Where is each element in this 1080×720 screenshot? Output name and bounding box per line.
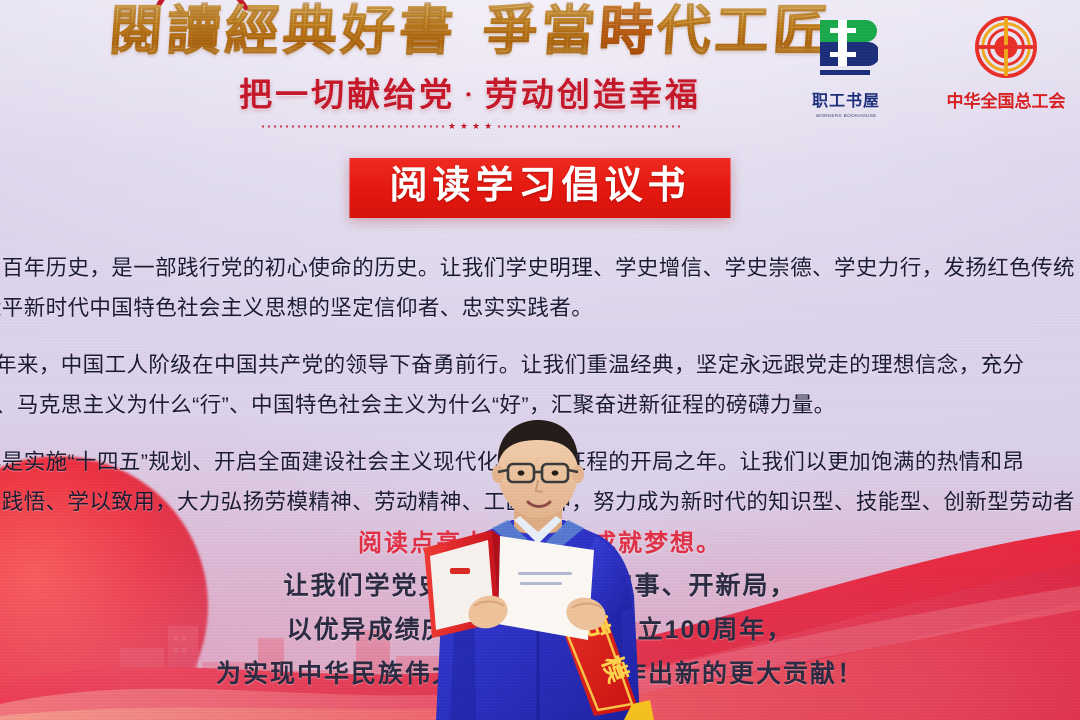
calligraphy-part-1: 閱讀經典好書 [107, 1, 459, 61]
header-subtitle: 把一切献给党·劳动创造幸福 [239, 68, 701, 116]
led-screen-stage: 閱讀經典好書爭當時代工匠 把一切献给党·劳动创造幸福 ★ ★ ★ ★ [0, 0, 1080, 720]
subtitle-right: 劳动创造幸福 [485, 78, 701, 114]
decorative-rule: ★ ★ ★ ★ [260, 123, 680, 131]
acftu-icon [974, 14, 1038, 80]
document-title-plate: 阅读学习倡议书 [349, 158, 730, 218]
rule-dots-right [496, 125, 680, 128]
calligraphy-part-3: 時 [597, 1, 659, 61]
rule-dots-left [260, 125, 444, 128]
logo-group: 职工书屋 WORKERS BOOKHOUSE 中华全国总工会 [790, 14, 1062, 119]
header-title-group: 閱讀經典好書爭當時代工匠 把一切献给党·劳动创造幸福 ★ ★ ★ ★ [120, 0, 820, 140]
rule-star-4: ★ [484, 122, 492, 131]
acftu-label: 中华全国总工会 [947, 87, 1066, 112]
paragraph-1-line-2: 习近平新时代中国特色社会主义思想的坚定信仰者、忠实实践者。 [0, 288, 1080, 328]
paragraph-1: 党的百年历史，是一部践行党的初心使命的历史。让我们学史明理、学史增信、学史崇德、… [0, 248, 1080, 328]
banner-header: 閱讀經典好書爭當時代工匠 把一切献给党·劳动创造幸福 ★ ★ ★ ★ [0, 0, 1080, 140]
rule-star-3: ★ [472, 122, 480, 131]
logo-workers-bookhouse: 职工书屋 WORKERS BOOKHOUSE [790, 14, 902, 119]
workers-bookhouse-english: WORKERS BOOKHOUSE [816, 113, 877, 119]
workers-bookhouse-label: 职工书屋 [812, 87, 880, 111]
workers-bookhouse-icon [814, 14, 878, 80]
presenter-figure: 劳 模 [388, 416, 688, 720]
calligraphy-part-2: 爭當 [481, 1, 601, 61]
subtitle-left: 把一切献给党 [239, 78, 455, 114]
paragraph-2: 100年来，中国工人阶级在中国共产党的领导下奋勇前行。让我们重温经典，坚定永远跟… [0, 345, 1080, 425]
main-calligraphy-title: 閱讀經典好書爭當時代工匠 [107, 4, 833, 58]
paragraph-2-line-1: 100年来，中国工人阶级在中国共产党的领导下奋勇前行。让我们重温经典，坚定永远跟… [0, 345, 1080, 385]
document-title-text: 阅读学习倡议书 [389, 167, 690, 207]
presenter-folder [424, 530, 594, 640]
subtitle-separator-dot: · [455, 80, 485, 110]
logo-acftu: 中华全国总工会 [950, 14, 1062, 112]
rule-star-1: ★ [448, 122, 456, 131]
paragraph-1-line-1: 党的百年历史，是一部践行党的初心使命的历史。让我们学史明理、学史增信、学史崇德、… [0, 248, 1080, 288]
rule-star-2: ★ [460, 122, 468, 131]
